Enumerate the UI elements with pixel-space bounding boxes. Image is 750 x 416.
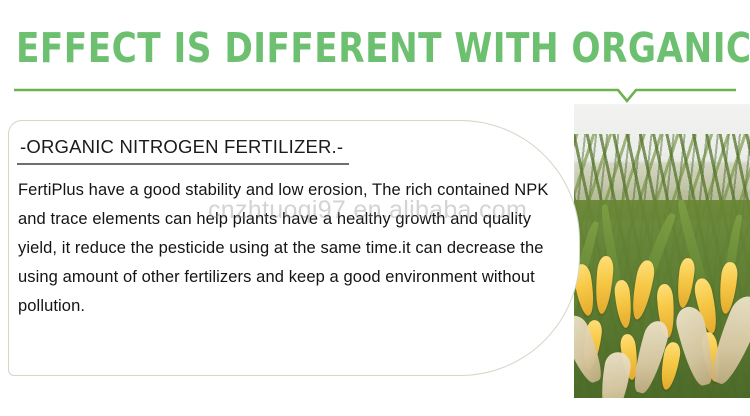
photo-corn-cobs <box>574 254 750 398</box>
corn-field-photo <box>574 104 750 398</box>
divider-icon <box>14 84 736 106</box>
promo-banner: EFFECT IS DIFFERENT WITH ORGANIC FERTILI… <box>0 0 750 416</box>
card-heading: -ORGANIC NITROGEN FERTILIZER.- <box>20 136 343 158</box>
card-body-text: FertiPlus have a good stability and low … <box>18 176 566 321</box>
card-heading-underline <box>17 163 349 165</box>
page-title: EFFECT IS DIFFERENT WITH ORGANIC FERTILI… <box>16 22 686 74</box>
divider-with-notch <box>14 84 736 106</box>
